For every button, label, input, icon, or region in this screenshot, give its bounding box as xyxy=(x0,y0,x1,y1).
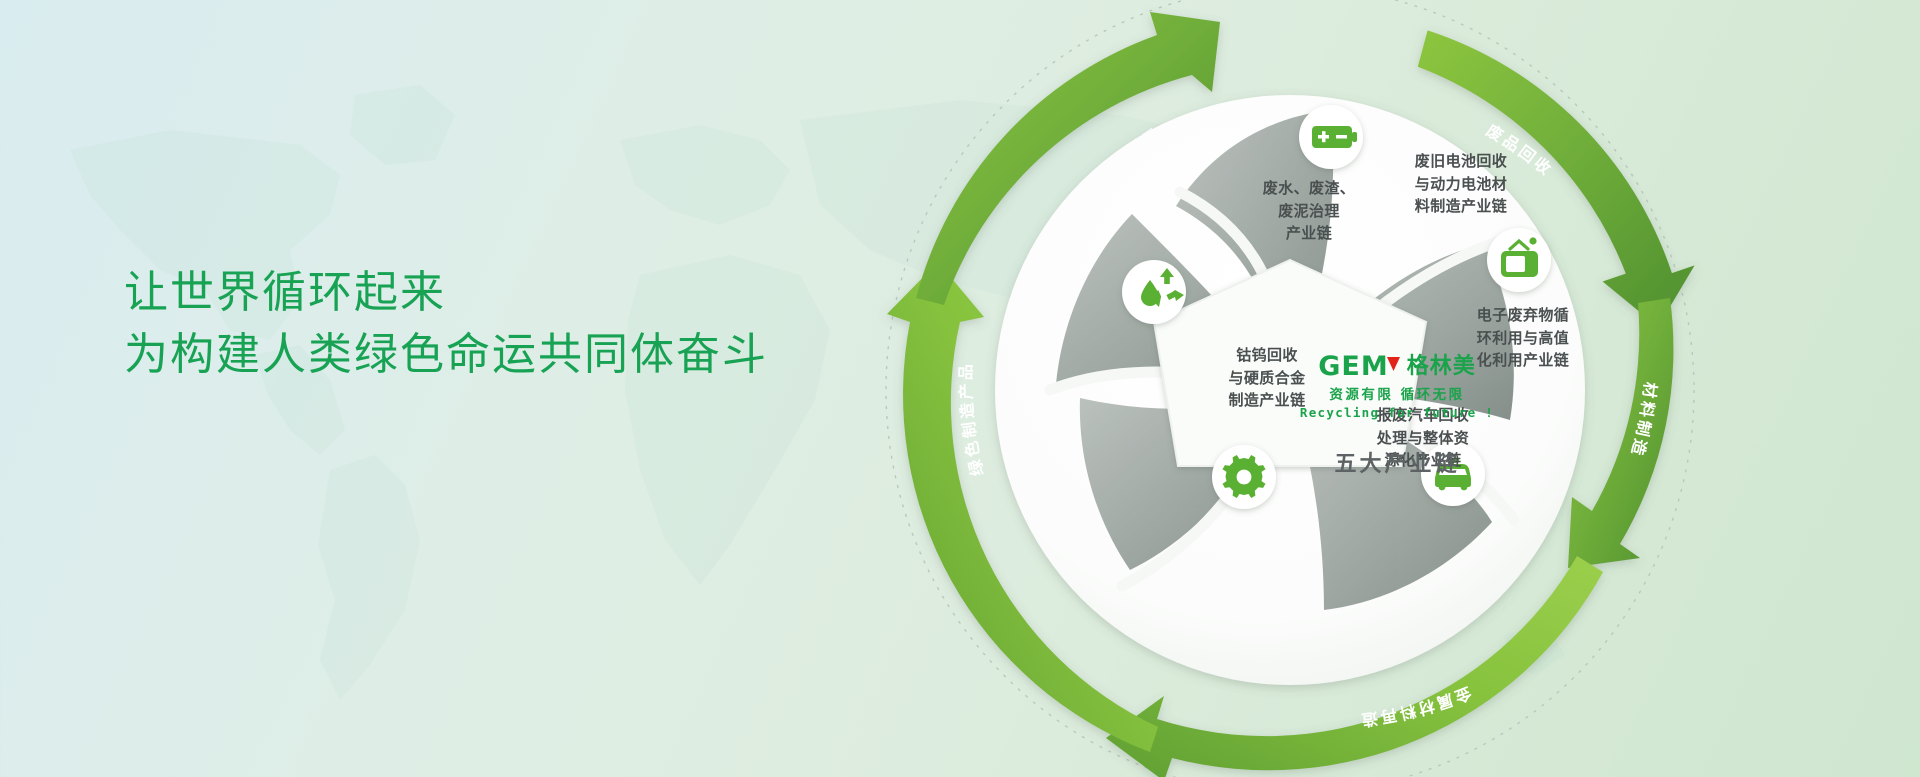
gem-logo-row: GEM 格林美 xyxy=(1292,353,1502,380)
gear-icon-badge[interactable] xyxy=(1212,445,1276,509)
gem-slogan-cn: 资源有限 循环无限 xyxy=(1292,383,1502,403)
battery-icon-badge[interactable] xyxy=(1299,105,1363,169)
tv-icon-badge[interactable] xyxy=(1487,228,1551,292)
gem-chinese-name: 格林美 xyxy=(1407,356,1476,378)
gem-wordmark: GEM xyxy=(1318,353,1388,380)
gem-logo: GEM 格林美 资源有限 循环无限 Recycling for future !… xyxy=(1292,353,1502,478)
headline-line-2: 为构建人类绿色命运共同体奋斗 xyxy=(124,324,768,386)
arc-material-manufacture xyxy=(1568,298,1673,568)
headline: 让世界循环起来 为构建人类绿色命运共同体奋斗 xyxy=(124,262,768,387)
gem-core-label: 五大产业链 xyxy=(1292,446,1502,478)
five-industry-chain-diagram: 废品回收 再利用 材料制造 金属材料再造 绿色制造产品 xyxy=(820,0,1740,777)
gem-slogan-en: Recycling for future ! xyxy=(1292,405,1502,420)
gem-red-triangle-icon xyxy=(1387,357,1400,377)
recycle-drop-icon-badge[interactable] xyxy=(1122,260,1186,324)
arc-label-green-products: 绿色制造产品 xyxy=(956,361,987,478)
headline-line-1: 让世界循环起来 xyxy=(124,262,768,324)
cycle-diagram-svg: 废品回收 再利用 材料制造 金属材料再造 绿色制造产品 xyxy=(820,0,1740,777)
